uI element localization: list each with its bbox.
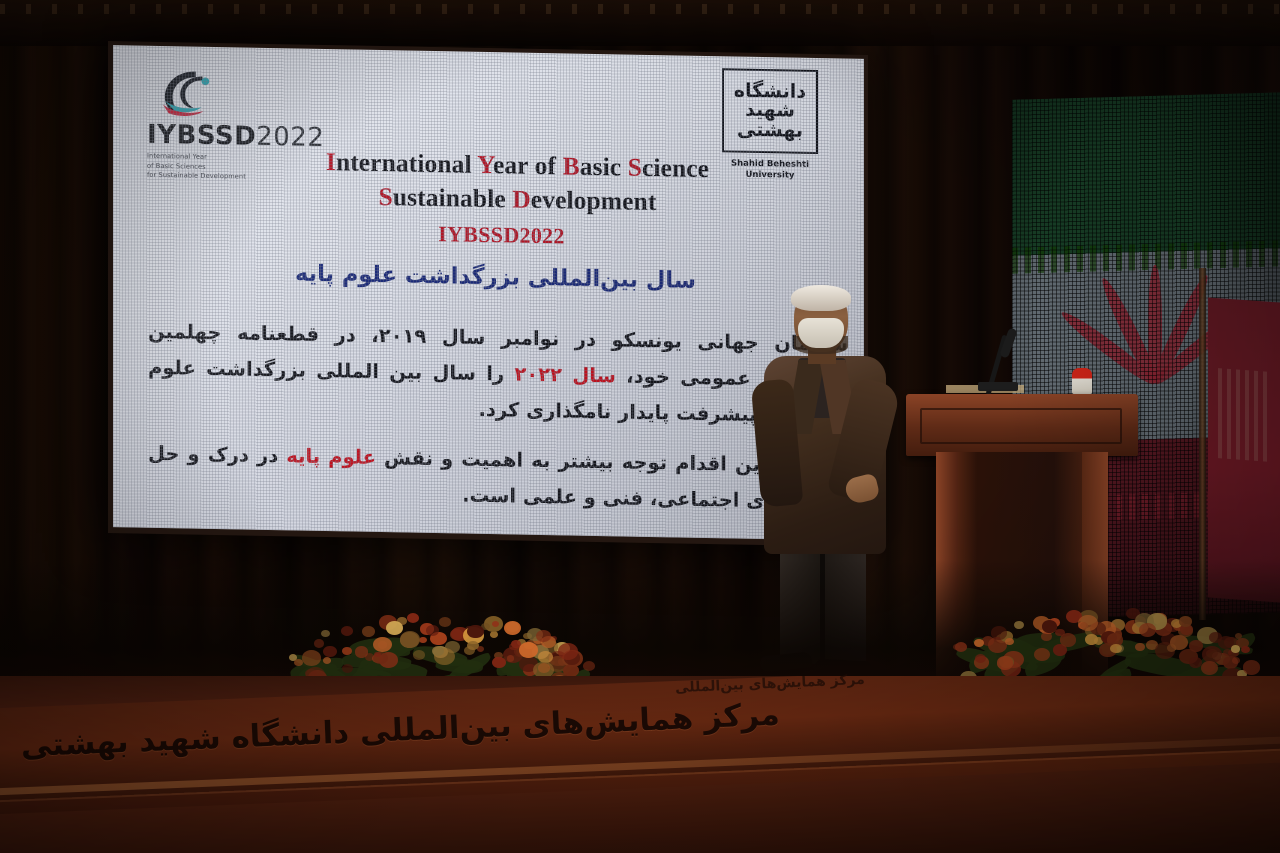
flower-blossom <box>1135 643 1144 651</box>
flower-blossom <box>490 631 498 638</box>
flower-blossom <box>467 641 478 650</box>
flower-blossom <box>323 646 337 657</box>
flower-blossom <box>314 639 324 648</box>
ceiling-light-dots <box>0 4 1280 14</box>
flower-blossom <box>419 637 427 643</box>
flower-blossom <box>1078 615 1098 631</box>
slide-paragraph-2: هدف از این اقدام توجه بیشتر به اهمیت و ن… <box>148 436 848 521</box>
flower-blossom <box>362 626 375 637</box>
face-mask-icon <box>798 318 844 348</box>
lectern-desktop <box>906 394 1138 456</box>
flower-blossom <box>342 664 353 673</box>
flower-blossom <box>1241 646 1250 654</box>
flower-blossom <box>1231 645 1240 652</box>
flower-blossom <box>1235 633 1242 639</box>
flower-blossom <box>1179 616 1192 626</box>
flower-blossom <box>1014 621 1024 629</box>
flower-blossom <box>386 621 403 635</box>
flower-blossom <box>583 661 595 671</box>
flower-blossom <box>1005 638 1014 645</box>
flower-blossom <box>536 630 551 642</box>
flower-blossom <box>991 626 1007 639</box>
flower-blossom <box>1189 640 1203 652</box>
speaker-hair <box>791 285 851 311</box>
flower-blossom <box>467 625 484 639</box>
flower-blossom <box>1243 660 1261 675</box>
flower-blossom <box>439 617 451 627</box>
flower-blossom <box>1139 623 1156 637</box>
flower-blossom <box>997 656 1013 669</box>
flower-arrangement-right <box>952 588 1262 684</box>
flower-blossom <box>1041 632 1052 641</box>
flower-blossom <box>1232 657 1240 664</box>
iran-flag-on-pole <box>1208 297 1280 602</box>
flower-blossom <box>321 630 330 637</box>
flower-blossom <box>1034 648 1050 661</box>
red-desk-object <box>1072 368 1092 394</box>
flower-blossom <box>413 650 425 660</box>
flower-blossom <box>558 643 578 659</box>
flower-blossom <box>302 650 321 665</box>
slide-persian-body: سازمان جهانی یونسکو در نوامبر سال ۲۰۱۹، … <box>148 314 848 535</box>
flower-blossom <box>507 655 515 661</box>
flower-blossom <box>407 613 419 623</box>
flower-blossom <box>355 646 369 657</box>
flower-blossom <box>1206 649 1218 658</box>
pole-flag-script <box>1218 368 1270 462</box>
flower-blossom <box>341 626 354 636</box>
flower-blossom <box>1201 661 1218 675</box>
flower-blossom <box>1189 657 1202 668</box>
stage-photo-scene: IYBSSD2022 International Year of Basic S… <box>0 0 1280 853</box>
flower-blossom <box>563 664 579 677</box>
microphone-base <box>978 382 1018 391</box>
flower-blossom <box>974 639 984 647</box>
flower-blossom <box>538 663 550 672</box>
flower-blossom <box>509 643 518 651</box>
flower-blossom <box>342 647 352 655</box>
slide-title: International Year of Basic Science Sust… <box>113 141 864 223</box>
sbu-calligraphy: دانشگاه شهید بهشتی <box>734 81 806 140</box>
flower-blossom <box>504 621 521 635</box>
slide-paragraph-1: سازمان جهانی یونسکو در نوامبر سال ۲۰۱۹، … <box>148 314 848 435</box>
sbu-logo-frame: دانشگاه شهید بهشتی <box>722 68 818 154</box>
flower-blossom <box>492 657 506 668</box>
iybssd-crescent-icon <box>157 68 219 121</box>
flower-blossom <box>1170 635 1188 650</box>
